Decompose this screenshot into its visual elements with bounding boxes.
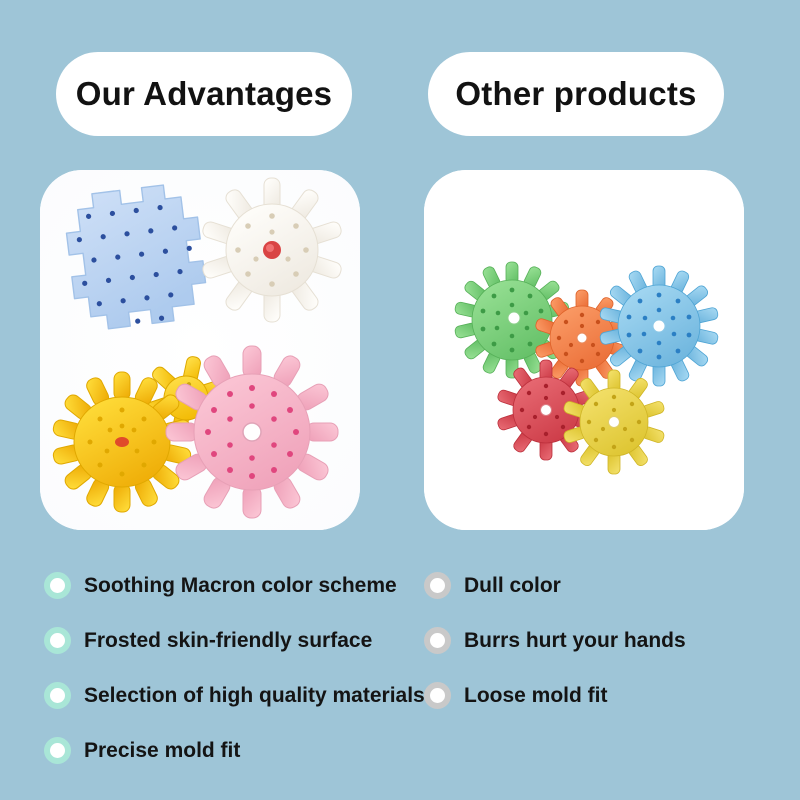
check-bullet-icon (44, 572, 71, 599)
neutral-bullet-icon (424, 572, 451, 599)
list-item-label: Soothing Macron color scheme (84, 575, 397, 596)
list-item: Soothing Macron color scheme (44, 558, 425, 613)
list-item: Precise mold fit (44, 723, 425, 778)
list-item-label: Frosted skin-friendly surface (84, 630, 372, 651)
column-title-advantages: Our Advantages (56, 52, 352, 136)
list-item-label: Precise mold fit (84, 740, 240, 761)
column-title-advantages-label: Our Advantages (76, 75, 332, 113)
advantages-product-photo (40, 170, 360, 530)
product-photo-card-other-products (424, 170, 744, 530)
advantages-bullet-list: Soothing Macron color scheme Frosted ski… (44, 558, 425, 778)
list-item: Loose mold fit (424, 668, 686, 723)
column-title-other-products: Other products (428, 52, 724, 136)
other-products-bullet-list: Dull color Burrs hurt your hands Loose m… (424, 558, 686, 723)
list-item: Frosted skin-friendly surface (44, 613, 425, 668)
check-bullet-icon (44, 627, 71, 654)
list-item: Burrs hurt your hands (424, 613, 686, 668)
list-item-label: Loose mold fit (464, 685, 608, 706)
product-photo-card-advantages (40, 170, 360, 530)
title-row: Our Advantages Other products (0, 52, 800, 136)
check-bullet-icon (44, 737, 71, 764)
list-item: Dull color (424, 558, 686, 613)
other-products-photo (424, 170, 744, 530)
neutral-bullet-icon (424, 682, 451, 709)
list-item-label: Dull color (464, 575, 561, 596)
list-item: Selection of high quality materials (44, 668, 425, 723)
neutral-bullet-icon (424, 627, 451, 654)
column-title-other-products-label: Other products (455, 75, 696, 113)
list-item-label: Selection of high quality materials (84, 685, 425, 706)
check-bullet-icon (44, 682, 71, 709)
list-item-label: Burrs hurt your hands (464, 630, 686, 651)
